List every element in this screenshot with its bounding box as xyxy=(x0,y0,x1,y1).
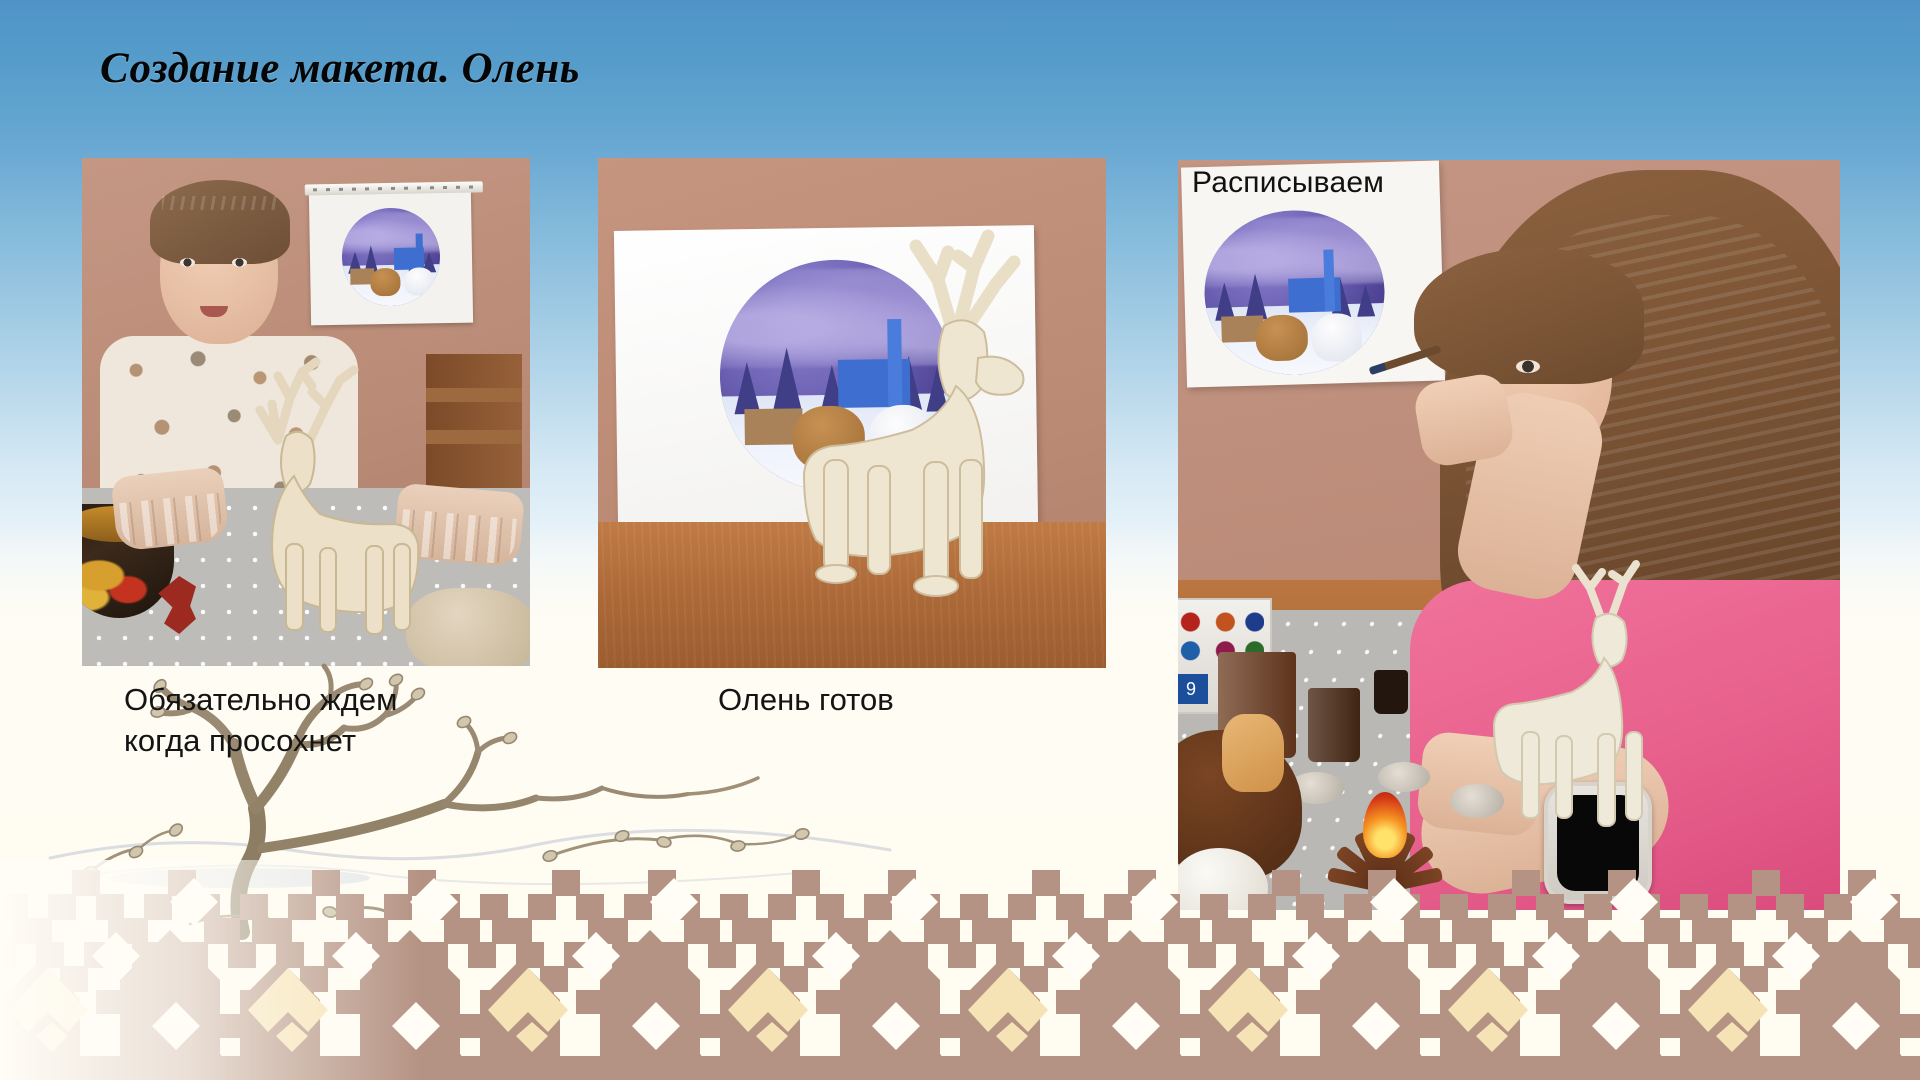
slide: Создание макета. Олень xyxy=(0,0,1920,1080)
deer-silhouette-icon xyxy=(216,348,446,644)
paint-jar-medium xyxy=(1308,688,1360,762)
photo-girl-shaping-clay-deer[interactable] xyxy=(82,158,530,666)
caption-wait-to-dry: Обязательно ждем когда просохнет xyxy=(124,680,524,762)
clay-deer-figurine xyxy=(216,348,446,644)
girl-eye-left xyxy=(180,258,195,267)
fir-tree-icon xyxy=(1214,282,1235,321)
wall-poster xyxy=(309,191,473,326)
brown-bear-icon xyxy=(1255,314,1308,361)
polar-bear-icon xyxy=(404,267,434,296)
northern-ornament-border xyxy=(0,860,1920,1080)
girl-hair xyxy=(150,180,290,264)
caption-overlay-paint: Расписываем xyxy=(1192,166,1384,200)
poster-circle-illustration xyxy=(1202,208,1387,377)
photo1-scene xyxy=(82,158,530,666)
clay-figure-model xyxy=(1222,714,1284,792)
bowl-pattern xyxy=(82,550,162,614)
tower-icon xyxy=(416,233,424,269)
photo-finished-clay-deer[interactable] xyxy=(598,158,1106,668)
paint-jar-small xyxy=(1374,670,1408,714)
clay-deer-figurine xyxy=(738,210,1048,610)
paint-count-badge: 9 xyxy=(1178,674,1208,704)
polar-bear-icon xyxy=(1311,313,1362,362)
campfire-flame-icon xyxy=(1363,792,1407,858)
photo3-scene: Расписываем 9 xyxy=(1178,160,1840,910)
fir-tree-icon xyxy=(1356,285,1375,317)
deer-silhouette-icon xyxy=(1464,546,1680,846)
brown-bear-icon xyxy=(370,268,400,297)
deer-silhouette-icon xyxy=(738,210,1048,610)
poster-rail xyxy=(305,181,483,195)
ornament-pattern xyxy=(0,860,1920,1080)
page-title: Создание макета. Олень xyxy=(100,44,580,93)
girl-eye xyxy=(1516,360,1540,373)
girl-hand-left xyxy=(110,466,229,551)
fir-tree-icon xyxy=(1244,274,1267,321)
caption-deer-ready: Олень готов xyxy=(718,680,1058,721)
poster-circle-illustration xyxy=(341,207,441,307)
girl-eye-right xyxy=(232,258,247,267)
clay-deer-figurine xyxy=(1464,546,1680,846)
tower-icon xyxy=(1323,249,1335,311)
photo2-scene xyxy=(598,158,1106,668)
photo-girl-painting-clay-deer[interactable]: Расписываем 9 xyxy=(1178,160,1840,910)
